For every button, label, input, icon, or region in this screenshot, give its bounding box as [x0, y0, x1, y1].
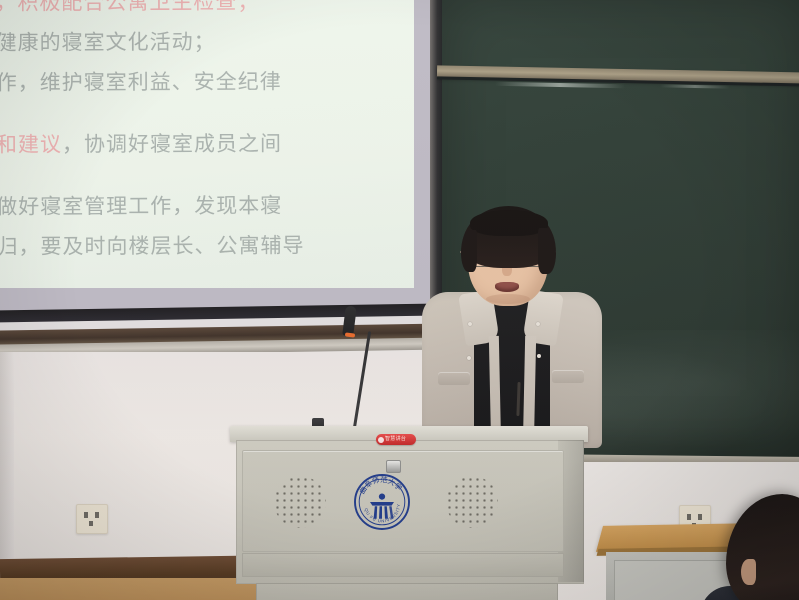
- lectern-base: [256, 583, 558, 600]
- presenter: [418, 196, 608, 446]
- brand-sticker: 智慧讲台: [376, 434, 416, 445]
- speaker-grille-left: [274, 476, 326, 528]
- mouth: [495, 282, 519, 292]
- university-emblem: 曲阜师范大学 QU FU UNIVERSITY: [352, 472, 412, 532]
- slide-line-1: 共建为乐，积极配合公寓卫生检查；: [0, 0, 414, 23]
- svg-text:曲阜师范大学: 曲阜师范大学: [357, 475, 404, 496]
- projection-screen: 共建为乐，积极配合公寓卫生检查； 开展丰富健康的寝室文化活动； 报修报修等工作，…: [0, 0, 414, 288]
- speaker-grille-right: [446, 476, 498, 528]
- lower-wall-edge: [0, 352, 14, 562]
- lectern: 智慧讲台 曲阜师范大学 QU FU UNIVERSITY: [228, 420, 590, 600]
- jacket-snap: [536, 322, 540, 326]
- slide-line-7: 汇报。: [0, 265, 414, 288]
- slide-text-block: 共建为乐，积极配合公寓卫生检查； 开展丰富健康的寝室文化活动； 报修报修等工作，…: [0, 0, 414, 288]
- slide-gap-2: [0, 163, 414, 187]
- hair-fringe: [470, 210, 548, 236]
- jacket-pocket-right: [552, 370, 584, 383]
- chin-shadow: [486, 294, 530, 304]
- jacket-snap: [537, 354, 541, 358]
- outlet-slot: [698, 514, 702, 520]
- jacket-pocket-left: [438, 372, 470, 385]
- outlet-slot: [89, 521, 93, 526]
- lectern-lower-strip: [242, 553, 564, 577]
- jacket-snap: [467, 356, 471, 360]
- slide-line-5: 辅导员等做好寝室管理工作，发现本寝: [0, 185, 414, 227]
- outlet-slot: [95, 512, 99, 518]
- slide-line-6: 室逾期未归，要及时向楼层长、公寓辅导: [0, 225, 414, 267]
- slide-line-2: 开展丰富健康的寝室文化活动；: [0, 21, 414, 63]
- brand-sticker-text: 智慧讲台: [385, 435, 406, 444]
- slide-line-4: 学的意见和建议，协调好寝室成员之间: [0, 123, 414, 165]
- slide-gap-1: [0, 101, 414, 125]
- slide-line-3: 报修报修等工作，维护寝室利益、安全纪律等工作，维护寝室利益、安全纪律: [0, 61, 414, 103]
- jacket-snap: [468, 322, 472, 326]
- emblem-chinese-text: 曲阜师范大学: [357, 475, 404, 496]
- brand-sticker-dot: [378, 437, 384, 443]
- wall-outlet-left: [76, 504, 108, 534]
- outlet-slot: [84, 512, 88, 518]
- classroom-photo: 共建为乐，积极配合公寓卫生检查； 开展丰富健康的寝室文化活动； 报修报修等工作，…: [0, 0, 799, 600]
- hair-side-left: [461, 230, 477, 272]
- foreground-student-ear: [741, 559, 756, 585]
- outlet-slot: [687, 514, 691, 520]
- hair-side-right: [538, 228, 556, 274]
